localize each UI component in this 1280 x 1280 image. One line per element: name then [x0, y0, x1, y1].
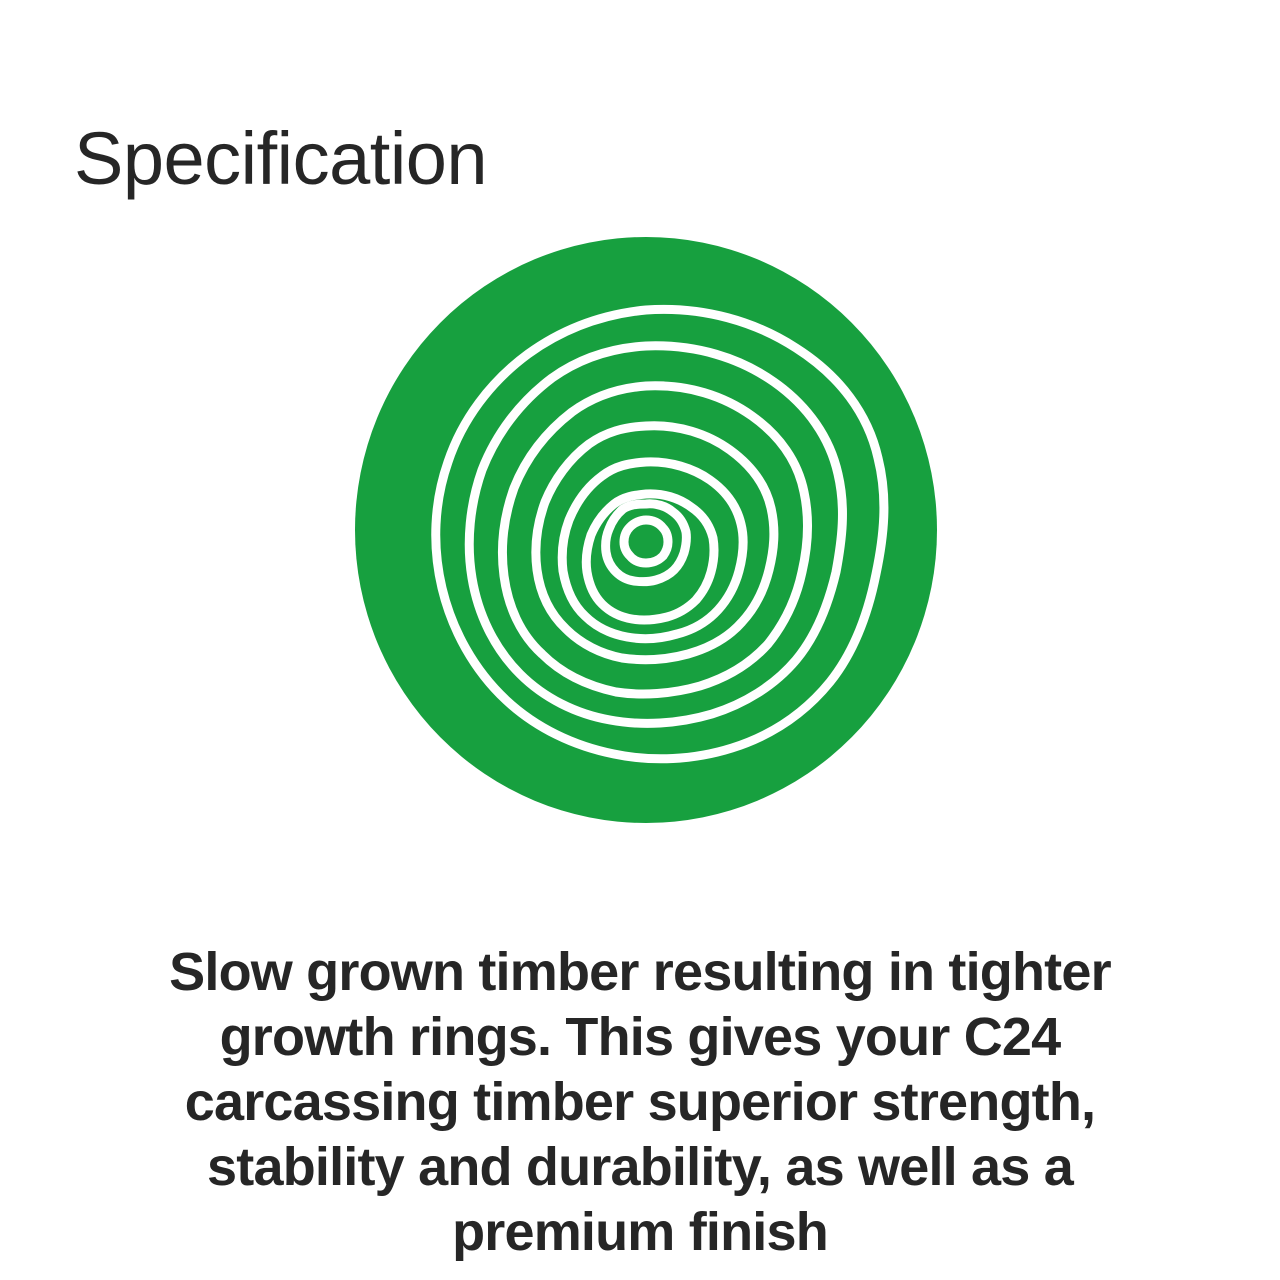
specification-panel: Specification [0, 0, 1280, 1280]
tree-growth-rings-illustration [352, 236, 940, 828]
green-disc [355, 237, 937, 823]
page-title: Specification [74, 122, 487, 196]
specification-description: Slow grown timber resulting in tighter g… [120, 940, 1160, 1265]
